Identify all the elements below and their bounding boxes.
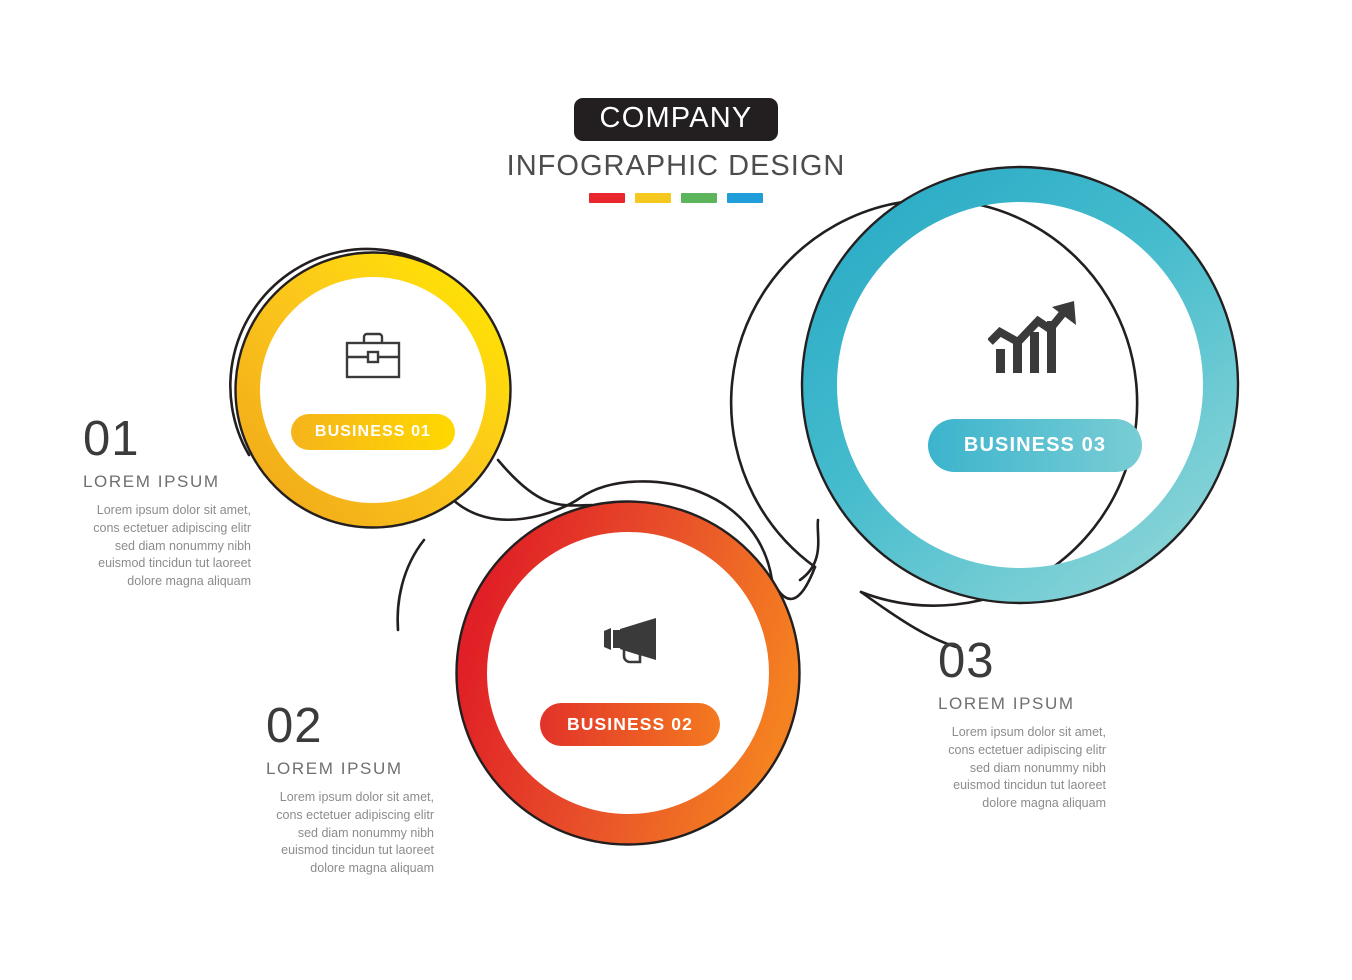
link-02-to-03 [800, 520, 818, 580]
step-01-subtitle: LOREM IPSUM [83, 473, 251, 490]
accent-color-bars [0, 193, 1352, 203]
step-02-body: Lorem ipsum dolor sit amet, cons ectetue… [256, 789, 434, 878]
blue-bar [727, 193, 763, 203]
green-bar [681, 193, 717, 203]
node-business-03[interactable]: BUSINESS 03 [885, 265, 1185, 505]
step-01-number: 01 [83, 415, 251, 464]
red-bar [589, 193, 625, 203]
step-02-subtitle: LOREM IPSUM [266, 760, 434, 777]
megaphone-icon [594, 615, 666, 667]
header: COMPANY INFOGRAPHIC DESIGN [0, 98, 1352, 203]
badge-business-03[interactable]: BUSINESS 03 [928, 419, 1142, 472]
step-03-subtitle: LOREM IPSUM [938, 695, 1106, 712]
yellow-bar [635, 193, 671, 203]
badge-business-02[interactable]: BUSINESS 02 [540, 703, 720, 746]
step-02-text-block: 02 LOREM IPSUM Lorem ipsum dolor sit ame… [266, 702, 434, 878]
step-03-text-block: 03 LOREM IPSUM Lorem ipsum dolor sit ame… [938, 637, 1106, 813]
step-03-body: Lorem ipsum dolor sit amet, cons ectetue… [928, 724, 1106, 813]
step-02-number: 02 [266, 702, 434, 751]
infographic-canvas: COMPANY INFOGRAPHIC DESIGN 01 LOREM IPSU… [0, 0, 1352, 980]
connector-masks [455, 470, 540, 560]
step-01-body: Lorem ipsum dolor sit amet, cons ectetue… [73, 502, 251, 591]
node-business-01[interactable]: BUSINESS 01 [253, 300, 493, 480]
page-title: INFOGRAPHIC DESIGN [0, 152, 1352, 181]
briefcase-icon [344, 330, 402, 382]
growth-chart-icon [988, 299, 1082, 377]
step-03-number: 03 [938, 637, 1106, 686]
step-01-text-block: 01 LOREM IPSUM Lorem ipsum dolor sit ame… [83, 415, 251, 591]
badge-business-01[interactable]: BUSINESS 01 [291, 414, 455, 450]
company-badge: COMPANY [574, 98, 779, 141]
node-business-02[interactable]: BUSINESS 02 [505, 580, 755, 780]
